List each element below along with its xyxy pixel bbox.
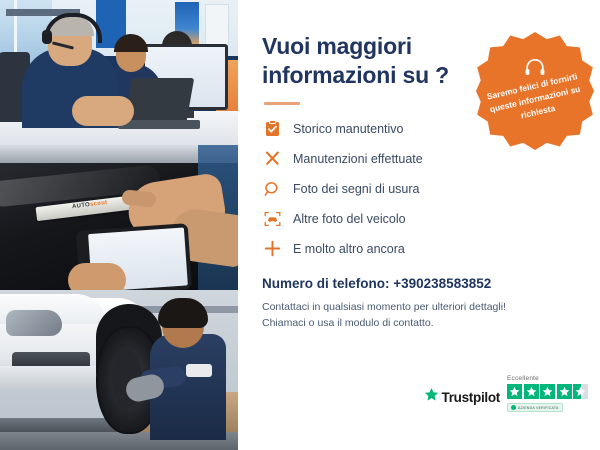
- clipboard-check-icon: [262, 119, 282, 139]
- list-item-label: E molto altro ancora: [293, 242, 405, 256]
- page-title: Vuoi maggiori informazioni su ?: [262, 32, 472, 90]
- magnifier-icon: [262, 179, 282, 199]
- content-panel: Vuoi maggiori informazioni su ? Storico …: [238, 0, 600, 450]
- laptop-screen: [124, 78, 194, 126]
- title-divider: [264, 102, 300, 105]
- verified-check-icon: [511, 405, 516, 410]
- star-filled-4: [557, 384, 572, 399]
- star-filled-3: [540, 384, 555, 399]
- agent-arm: [72, 96, 134, 126]
- star-filled-1: [507, 384, 522, 399]
- car-bumper: [0, 366, 110, 390]
- trustpilot-wordmark: Trustpilot: [442, 390, 501, 405]
- availability-badge: Saremo felici di fornirti queste informa…: [476, 32, 594, 150]
- car-focus-icon: [262, 209, 282, 229]
- phone-number-line[interactable]: Numero di telefono: +390238583852: [262, 276, 578, 291]
- contact-subcopy: Contattaci in qualsiasi momento per ulte…: [262, 299, 578, 332]
- contact-subcopy-line-2: Chiamaci o usa il modulo di contatto.: [262, 315, 578, 331]
- agent-headset-earcup: [42, 30, 52, 44]
- star-half-5: [573, 384, 588, 399]
- photo-column: AUTOscout: [0, 0, 238, 450]
- list-item-label: Altre foto del veicolo: [293, 212, 406, 226]
- trustpilot-widget[interactable]: Trustpilot Eccellente: [424, 375, 589, 412]
- list-item-label: Foto dei segni di usura: [293, 182, 419, 196]
- inspector-hand-holding-tablet: [68, 263, 126, 290]
- laptop-keyboard: [118, 120, 200, 129]
- tools-wrench-icon: [262, 149, 282, 169]
- list-item: Altre foto del veicolo: [262, 209, 578, 229]
- wall-poster-secondary: [205, 4, 229, 46]
- call-centre-agents-photo: [0, 0, 238, 145]
- contact-subcopy-line-1: Contattaci in qualsiasi momento per ulte…: [262, 299, 578, 315]
- verified-company-badge: AZIENDA VERIFICATA: [507, 403, 563, 412]
- verified-company-label: AZIENDA VERIFICATA: [518, 406, 559, 410]
- promo-banner: AUTOscout: [0, 0, 600, 450]
- trustpilot-rating-label: Eccellente: [507, 375, 588, 382]
- mechanic-hair: [158, 298, 208, 328]
- trustpilot-rating: Eccellente: [507, 375, 588, 412]
- list-item: E molto altro ancora: [262, 239, 578, 259]
- star-filled-2: [524, 384, 539, 399]
- tablet-inspection-photo: AUTOscout: [0, 145, 238, 290]
- trustpilot-stars: [507, 384, 588, 399]
- plus-icon: [262, 239, 282, 259]
- list-item: Foto dei segni di usura: [262, 179, 578, 199]
- trustpilot-logo: Trustpilot: [424, 387, 501, 412]
- list-item-label: Manutenzioni effettuate: [293, 152, 423, 166]
- trustpilot-star-icon: [424, 387, 439, 407]
- list-item-label: Storico manutentivo: [293, 122, 403, 136]
- car-headlight: [6, 310, 62, 336]
- wheel-inspection-photo: [0, 290, 238, 450]
- list-item: Manutenzioni effettuate: [262, 149, 578, 169]
- mechanic-uniform-logo: [186, 364, 212, 377]
